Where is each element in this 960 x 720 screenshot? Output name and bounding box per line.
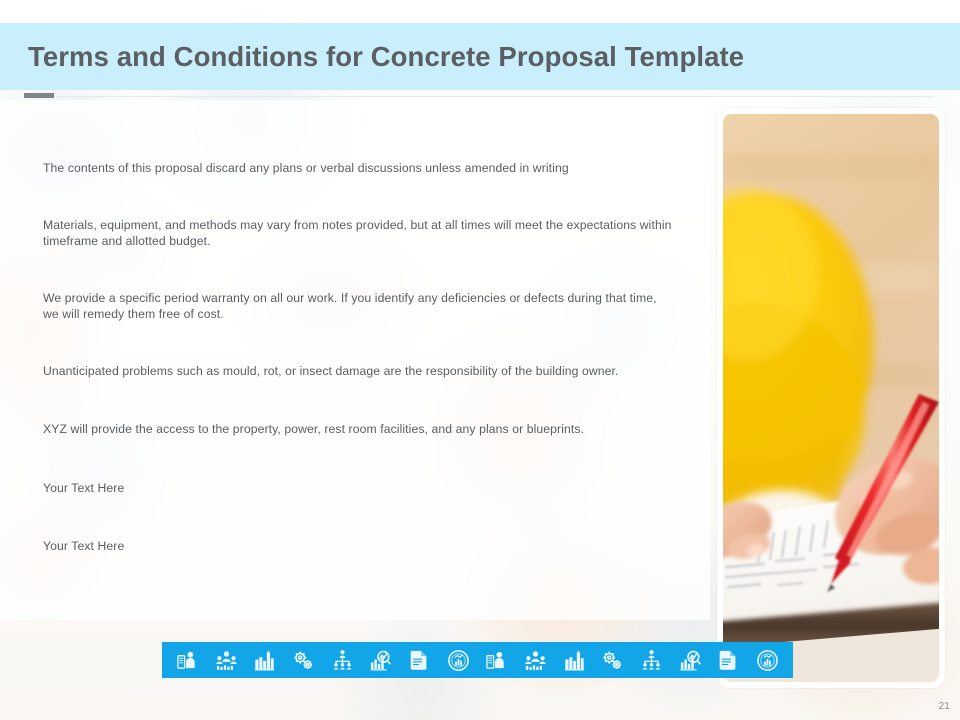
document-icon[interactable] xyxy=(714,647,744,673)
placeholder-text-2[interactable]: Your Text Here xyxy=(43,538,673,555)
terms-paragraph-2: Materials, equipment, and methods may va… xyxy=(43,217,673,250)
terms-paragraph-1: The contents of this proposal discard an… xyxy=(43,160,673,177)
page-number: 21 xyxy=(938,700,950,712)
slide-canvas: Terms and Conditions for Concrete Propos… xyxy=(0,0,960,720)
factory-icon[interactable] xyxy=(559,647,589,673)
person-document-icon[interactable] xyxy=(172,647,202,673)
gears-icon[interactable] xyxy=(598,647,628,673)
terms-text-block: The contents of this proposal discard an… xyxy=(43,160,673,555)
title-band: Terms and Conditions for Concrete Propos… xyxy=(0,23,960,90)
page-title: Terms and Conditions for Concrete Propos… xyxy=(28,41,744,73)
factory-icon[interactable] xyxy=(250,647,280,673)
photo-card xyxy=(717,108,945,688)
photo-image xyxy=(723,114,939,682)
chart-magnifier-icon[interactable] xyxy=(366,647,396,673)
circle-chart-icon[interactable] xyxy=(443,647,473,673)
org-chart-icon[interactable] xyxy=(327,647,357,673)
gears-icon[interactable] xyxy=(288,647,318,673)
org-chart-icon[interactable] xyxy=(637,647,667,673)
hard-hat-signing-photo-illustration xyxy=(723,114,939,682)
title-divider-dash xyxy=(24,93,54,98)
icon-strip xyxy=(162,642,793,678)
terms-paragraph-3: We provide a specific period warranty on… xyxy=(43,290,673,323)
team-group-icon[interactable] xyxy=(521,647,551,673)
chart-magnifier-icon[interactable] xyxy=(675,647,705,673)
team-group-icon[interactable] xyxy=(211,647,241,673)
person-document-icon[interactable] xyxy=(482,647,512,673)
terms-paragraph-4: Unanticipated problems such as mould, ro… xyxy=(43,363,673,380)
circle-chart-icon[interactable] xyxy=(753,647,783,673)
terms-paragraph-5: XYZ will provide the access to the prope… xyxy=(43,421,673,438)
document-icon[interactable] xyxy=(404,647,434,673)
title-divider-rule xyxy=(24,96,934,97)
placeholder-text-1[interactable]: Your Text Here xyxy=(43,480,673,497)
